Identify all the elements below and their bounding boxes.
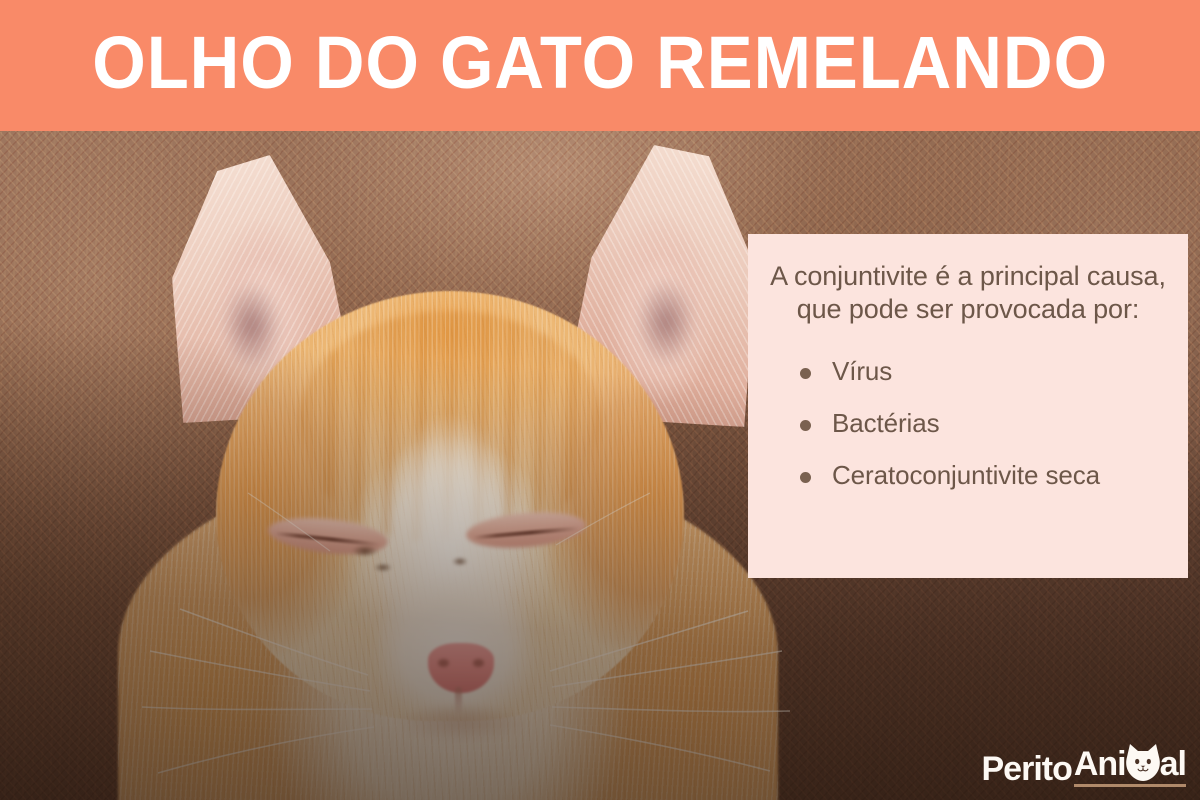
cause-label: Vírus	[832, 356, 892, 386]
bullet-icon	[800, 420, 811, 431]
causes-list: Vírus Bactérias Ceratoconjuntivite seca	[764, 357, 1172, 513]
cause-label: Bactérias	[832, 408, 939, 438]
logo-animal-group: Ani al	[1074, 743, 1186, 786]
logo-underline	[1074, 784, 1186, 787]
header-band: OLHO DO GATO REMELANDO	[0, 0, 1200, 131]
list-item: Ceratoconjuntivite seca	[790, 461, 1172, 490]
peritoanimal-logo: Perito Ani al	[982, 740, 1187, 786]
bullet-icon	[800, 472, 811, 483]
list-item: Bactérias	[790, 409, 1172, 438]
cat-head-icon	[1124, 743, 1162, 783]
logo-text-ani: Ani	[1074, 747, 1126, 781]
info-card-lead-text: A conjuntivite é a principal causa, que …	[764, 260, 1172, 327]
infographic-root: OLHO DO GATO REMELANDO A conjuntivite é …	[0, 0, 1200, 800]
cause-label: Ceratoconjuntivite seca	[832, 460, 1100, 490]
page-title: OLHO DO GATO REMELANDO	[92, 26, 1108, 106]
bullet-icon	[800, 368, 811, 379]
info-card: A conjuntivite é a principal causa, que …	[748, 234, 1188, 578]
logo-text-al: al	[1160, 747, 1186, 781]
list-item: Vírus	[790, 357, 1172, 386]
logo-text-perito: Perito	[982, 752, 1072, 786]
